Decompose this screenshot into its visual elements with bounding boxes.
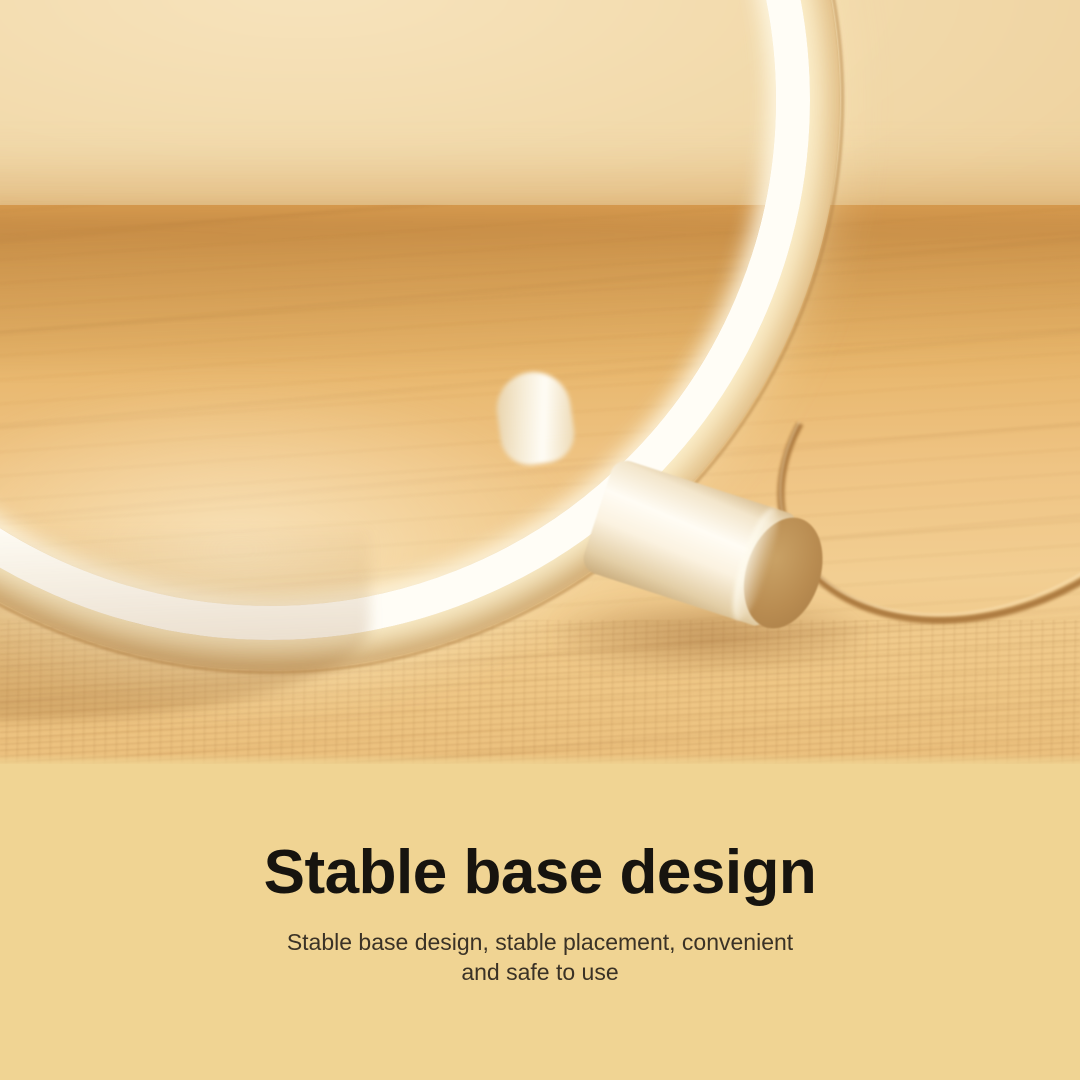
product-feature-card: Stable base design Stable base design, s… — [0, 0, 1080, 1080]
caption-subtitle-line-2: and safe to use — [0, 957, 1080, 987]
caption-title: Stable base design — [0, 842, 1080, 904]
caption-subtitle-line-1: Stable base design, stable placement, co… — [287, 929, 793, 955]
photo-bottom-fade — [0, 754, 1080, 764]
product-photo — [0, 0, 1080, 764]
caption-subtitle: Stable base design, stable placement, co… — [0, 927, 1080, 987]
caption-panel: Stable base design Stable base design, s… — [0, 764, 1080, 1080]
